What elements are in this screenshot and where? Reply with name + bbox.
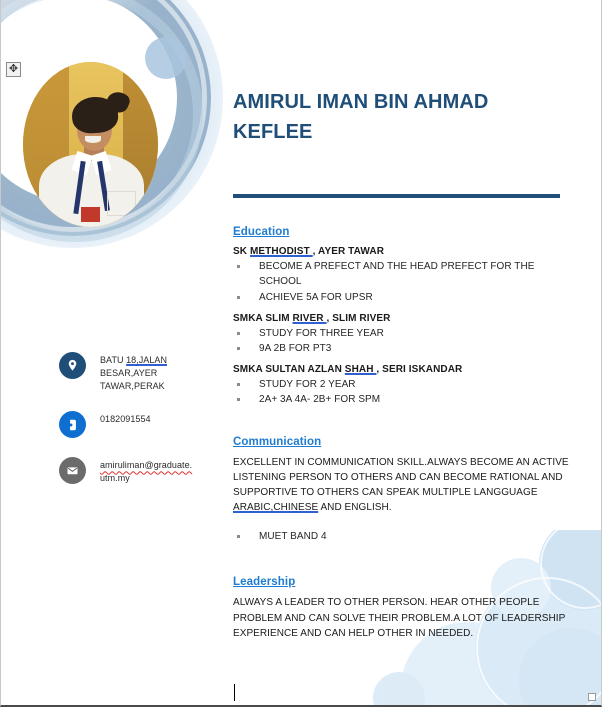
contact-row-email: amiruliman@graduate. utm.my <box>59 457 224 485</box>
contact-row-address: BATU 18,JALAN BESAR,AYER TAWAR,PERAK <box>59 352 224 392</box>
avatar[interactable] <box>23 62 158 227</box>
communication-bullets: MUET BAND 4 <box>233 529 569 544</box>
grammar-flag: SHAH <box>345 364 377 375</box>
text-cursor <box>234 684 235 701</box>
email-text: amiruliman@graduate. utm.my <box>100 457 192 485</box>
education-entry-title: SMKA SULTAN AZLAN SHAH , SERI ISKANDAR <box>233 364 569 375</box>
list-item: STUDY FOR 2 YEAR <box>233 377 569 392</box>
email-spellcheck-flag: amiruliman@graduate. <box>100 460 192 470</box>
resume-content: AMIRUL IMAN BIN AHMAD KEFLEE Education S… <box>233 0 569 641</box>
move-handle-icon[interactable]: ✥ <box>6 62 21 77</box>
education-entry-bullets: STUDY FOR 2 YEAR 2A+ 3A 4A- 2B+ FOR SPM <box>233 377 569 407</box>
section-communication: Communication EXCELLENT IN COMMUNICATION… <box>233 436 569 545</box>
grammar-flag: METHODIST <box>250 246 313 257</box>
communication-paragraph: EXCELLENT IN COMMUNICATION SKILL.ALWAYS … <box>233 455 569 516</box>
location-pin-icon <box>59 352 86 379</box>
list-item: ACHIEVE 5A FOR UPSR <box>233 290 569 305</box>
email-icon <box>59 457 86 484</box>
document-page[interactable]: ✥ <box>0 0 602 707</box>
section-heading-communication: Communication <box>233 436 569 448</box>
list-item: 2A+ 3A 4A- 2B+ FOR SPM <box>233 392 569 407</box>
education-entry-title: SK METHODIST , AYER TAWAR <box>233 246 569 257</box>
education-entry-bullets: STUDY FOR THREE YEAR 9A 2B FOR PT3 <box>233 326 569 356</box>
list-item: MUET BAND 4 <box>233 529 569 544</box>
grammar-flag: RIVER <box>293 313 327 324</box>
education-entry-title: SMKA SLIM RIVER , SLIM RIVER <box>233 313 569 324</box>
section-education: Education SK METHODIST , AYER TAWAR BECO… <box>233 226 569 407</box>
grammar-flag: ARABIC,CHINESE <box>233 502 318 513</box>
section-heading-education: Education <box>233 226 569 238</box>
resize-handle[interactable] <box>588 693 596 701</box>
contact-row-phone: 0182091554 <box>59 411 224 438</box>
list-item: BECOME A PREFECT AND THE HEAD PREFECT FO… <box>233 259 569 289</box>
education-entry-bullets: BECOME A PREFECT AND THE HEAD PREFECT FO… <box>233 259 569 305</box>
section-leadership: Leadership ALWAYS A LEADER TO OTHER PERS… <box>233 576 569 641</box>
phone-icon <box>59 411 86 438</box>
address-text: BATU 18,JALAN BESAR,AYER TAWAR,PERAK <box>100 352 167 392</box>
page-title: AMIRUL IMAN BIN AHMAD KEFLEE <box>233 88 569 147</box>
leadership-paragraph: ALWAYS A LEADER TO OTHER PERSON. HEAR OT… <box>233 595 569 641</box>
phone-text: 0182091554 <box>100 411 151 426</box>
list-item: 9A 2B FOR PT3 <box>233 341 569 356</box>
address-grammar-flag: 18,JALAN <box>126 355 167 365</box>
contact-block: BATU 18,JALAN BESAR,AYER TAWAR,PERAK 018… <box>59 352 224 504</box>
list-item: STUDY FOR THREE YEAR <box>233 326 569 341</box>
section-heading-leadership: Leadership <box>233 576 569 588</box>
title-divider <box>233 194 560 198</box>
